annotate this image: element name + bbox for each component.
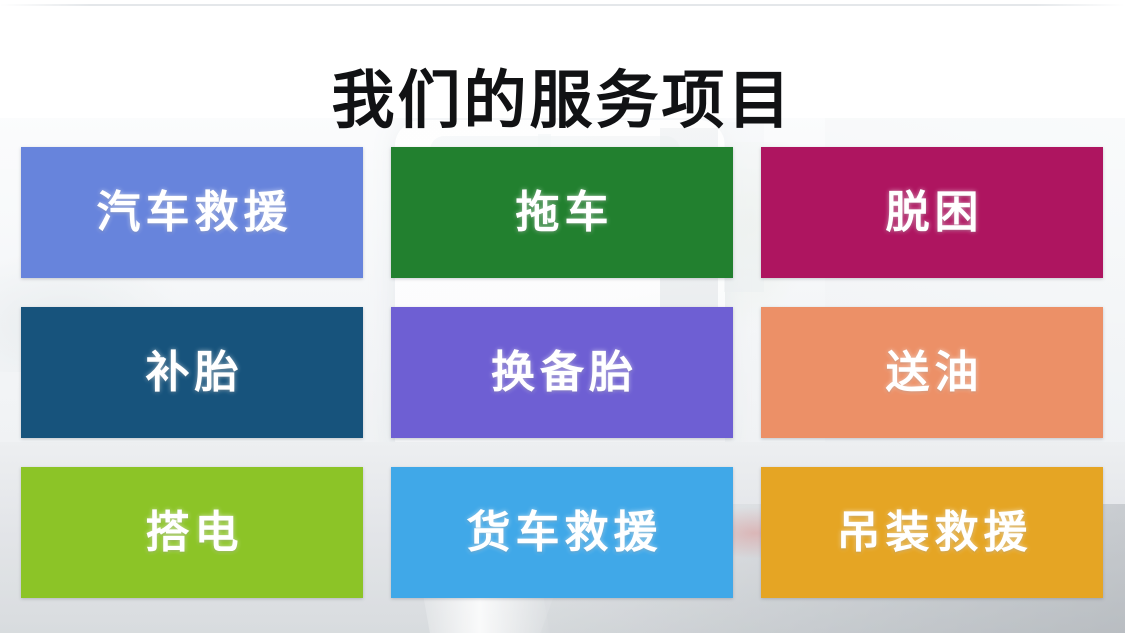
headline-band: 我们的服务项目 (0, 0, 1125, 118)
page-title: 我们的服务项目 (0, 64, 1125, 138)
service-tile-huanbeitai[interactable]: 换备胎 (391, 307, 733, 438)
service-tile-label: 换备胎 (486, 351, 638, 395)
service-tile-diaozhuang-jiuyuan[interactable]: 吊装救援 (761, 467, 1103, 598)
service-tile-qiche-jiuyuan[interactable]: 汽车救援 (21, 147, 363, 278)
service-tile-label: 汽车救援 (92, 191, 293, 235)
service-grid: 汽车救援 拖车 脱困 补胎 换备胎 送油 搭电 货车救援 吊装救援 (21, 147, 1103, 597)
service-tile-dadian[interactable]: 搭电 (21, 467, 363, 598)
service-poster: 我们的服务项目 汽车救援 拖车 脱困 补胎 换备胎 送油 搭电 货车救援 吊装救… (0, 0, 1125, 633)
service-tile-songyou[interactable]: 送油 (761, 307, 1103, 438)
service-tile-tuoche[interactable]: 拖车 (391, 147, 733, 278)
service-tile-label: 拖车 (511, 191, 614, 235)
top-divider (0, 4, 1125, 6)
service-tile-label: 吊装救援 (832, 511, 1033, 555)
service-tile-tuokun[interactable]: 脱困 (761, 147, 1103, 278)
service-tile-label: 脱困 (881, 191, 984, 235)
service-tile-huoche-jiuyuan[interactable]: 货车救援 (391, 467, 733, 598)
service-tile-label: 送油 (881, 351, 984, 395)
service-tile-label: 补胎 (141, 351, 244, 395)
service-tile-butai[interactable]: 补胎 (21, 307, 363, 438)
service-tile-label: 搭电 (141, 511, 244, 555)
service-tile-label: 货车救援 (462, 511, 663, 555)
